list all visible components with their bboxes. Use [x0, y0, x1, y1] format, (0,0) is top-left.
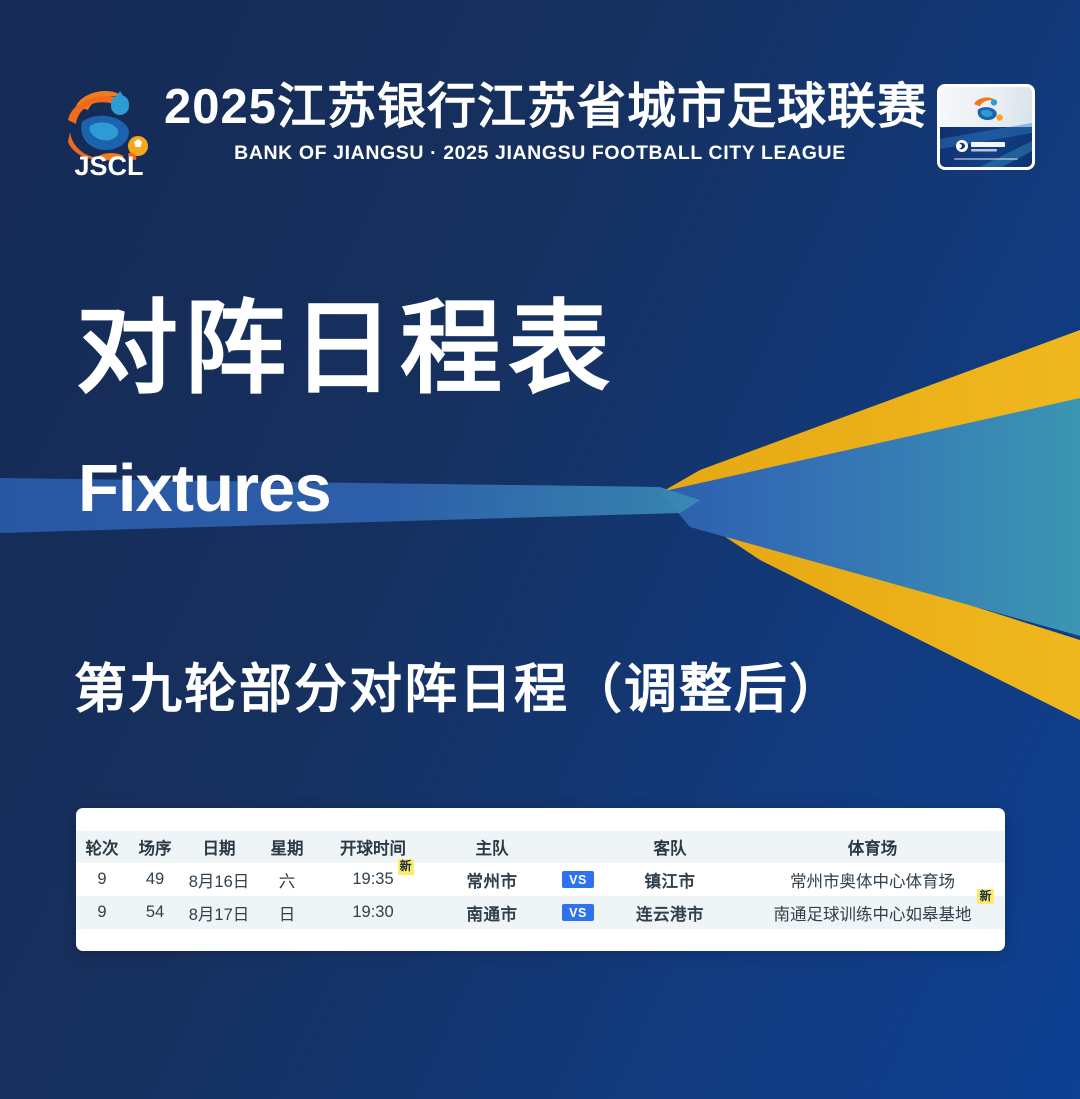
cell-vs: VS	[556, 896, 600, 929]
cell-time: 19:35 新	[318, 863, 428, 896]
fixtures-card: 轮次 场序 日期 星期 开球时间 主队 客队 体育场 9 49 8月16日 六	[76, 808, 1005, 951]
fixtures-table-body: 9 49 8月16日 六 19:35 新 常州市 VS 镇江市	[76, 863, 1005, 929]
fixtures-table: 轮次 场序 日期 星期 开球时间 主队 客队 体育场 9 49 8月16日 六	[76, 831, 1005, 929]
cell-vs: VS	[556, 863, 600, 896]
page-title: 对阵日程表	[76, 298, 616, 400]
cell-home-team: 南通市	[428, 896, 556, 929]
league-title-block: 2025江苏银行江苏省城市足球联赛 BANK OF JIANGSU · 2025…	[164, 82, 916, 165]
cell-venue-value: 南通足球训练中心如皋基地	[774, 906, 972, 924]
poster-header: JSCL 2025江苏银行江苏省城市足球联赛 BANK OF JIANGSU ·…	[0, 0, 1080, 200]
new-badge: 新	[977, 889, 993, 905]
cell-venue: 常州市奥体中心体育场	[740, 863, 1005, 896]
ribbon-gold-upper	[660, 330, 1080, 493]
sponsor-logo-art	[940, 87, 1032, 167]
table-row: 9 54 8月17日 日 19:30 南通市 VS 连云港市	[76, 896, 1005, 929]
cell-round: 9	[76, 863, 128, 896]
col-header-weekday: 星期	[256, 831, 318, 863]
poster-canvas: JSCL 2025江苏银行江苏省城市足球联赛 BANK OF JIANGSU ·…	[0, 0, 1080, 1099]
league-title-cn: 2025江苏银行江苏省城市足球联赛	[164, 82, 916, 133]
cell-away-team: 连云港市	[600, 896, 740, 929]
col-header-home: 主队	[428, 831, 556, 863]
cell-date: 8月17日	[182, 896, 256, 929]
cell-time-value: 19:35	[352, 870, 393, 888]
cell-round: 9	[76, 896, 128, 929]
new-badge: 新	[398, 859, 414, 875]
cell-home-team: 常州市	[428, 863, 556, 896]
cell-seq: 49	[128, 863, 182, 896]
sponsor-logo-inner	[940, 87, 1032, 167]
fixtures-table-head: 轮次 场序 日期 星期 开球时间 主队 客队 体育场	[76, 831, 1005, 863]
cell-date: 8月16日	[182, 863, 256, 896]
jscl-logo: JSCL	[58, 76, 160, 180]
cell-time: 19:30	[318, 896, 428, 929]
league-title-en: BANK OF JIANGSU · 2025 JIANGSU FOOTBALL …	[164, 142, 916, 165]
cell-weekday: 日	[256, 896, 318, 929]
cell-away-team: 镇江市	[600, 863, 740, 896]
col-header-away: 客队	[600, 831, 740, 863]
col-header-vs	[556, 831, 600, 863]
cell-weekday: 六	[256, 863, 318, 896]
col-header-round: 轮次	[76, 831, 128, 863]
vs-badge: VS	[562, 904, 594, 922]
vs-badge: VS	[562, 871, 594, 889]
table-header-row: 轮次 场序 日期 星期 开球时间 主队 客队 体育场	[76, 831, 1005, 863]
col-header-venue: 体育场	[740, 831, 1005, 863]
cell-time-value: 19:30	[352, 903, 393, 921]
ribbon-teal-body	[660, 398, 1080, 636]
table-row: 9 49 8月16日 六 19:35 新 常州市 VS 镇江市	[76, 863, 1005, 896]
jscl-logo-text: JSCL	[74, 151, 143, 180]
cell-venue: 南通足球训练中心如皋基地 新	[740, 896, 1005, 929]
sponsor-logo-box	[937, 84, 1035, 170]
cell-venue-value: 常州市奥体中心体育场	[790, 873, 955, 891]
col-header-seq: 场序	[128, 831, 182, 863]
col-header-date: 日期	[182, 831, 256, 863]
page-subtitle: 第九轮部分对阵日程（调整后）	[74, 663, 844, 716]
page-title-en: Fixtures	[78, 455, 331, 522]
cell-seq: 54	[128, 896, 182, 929]
